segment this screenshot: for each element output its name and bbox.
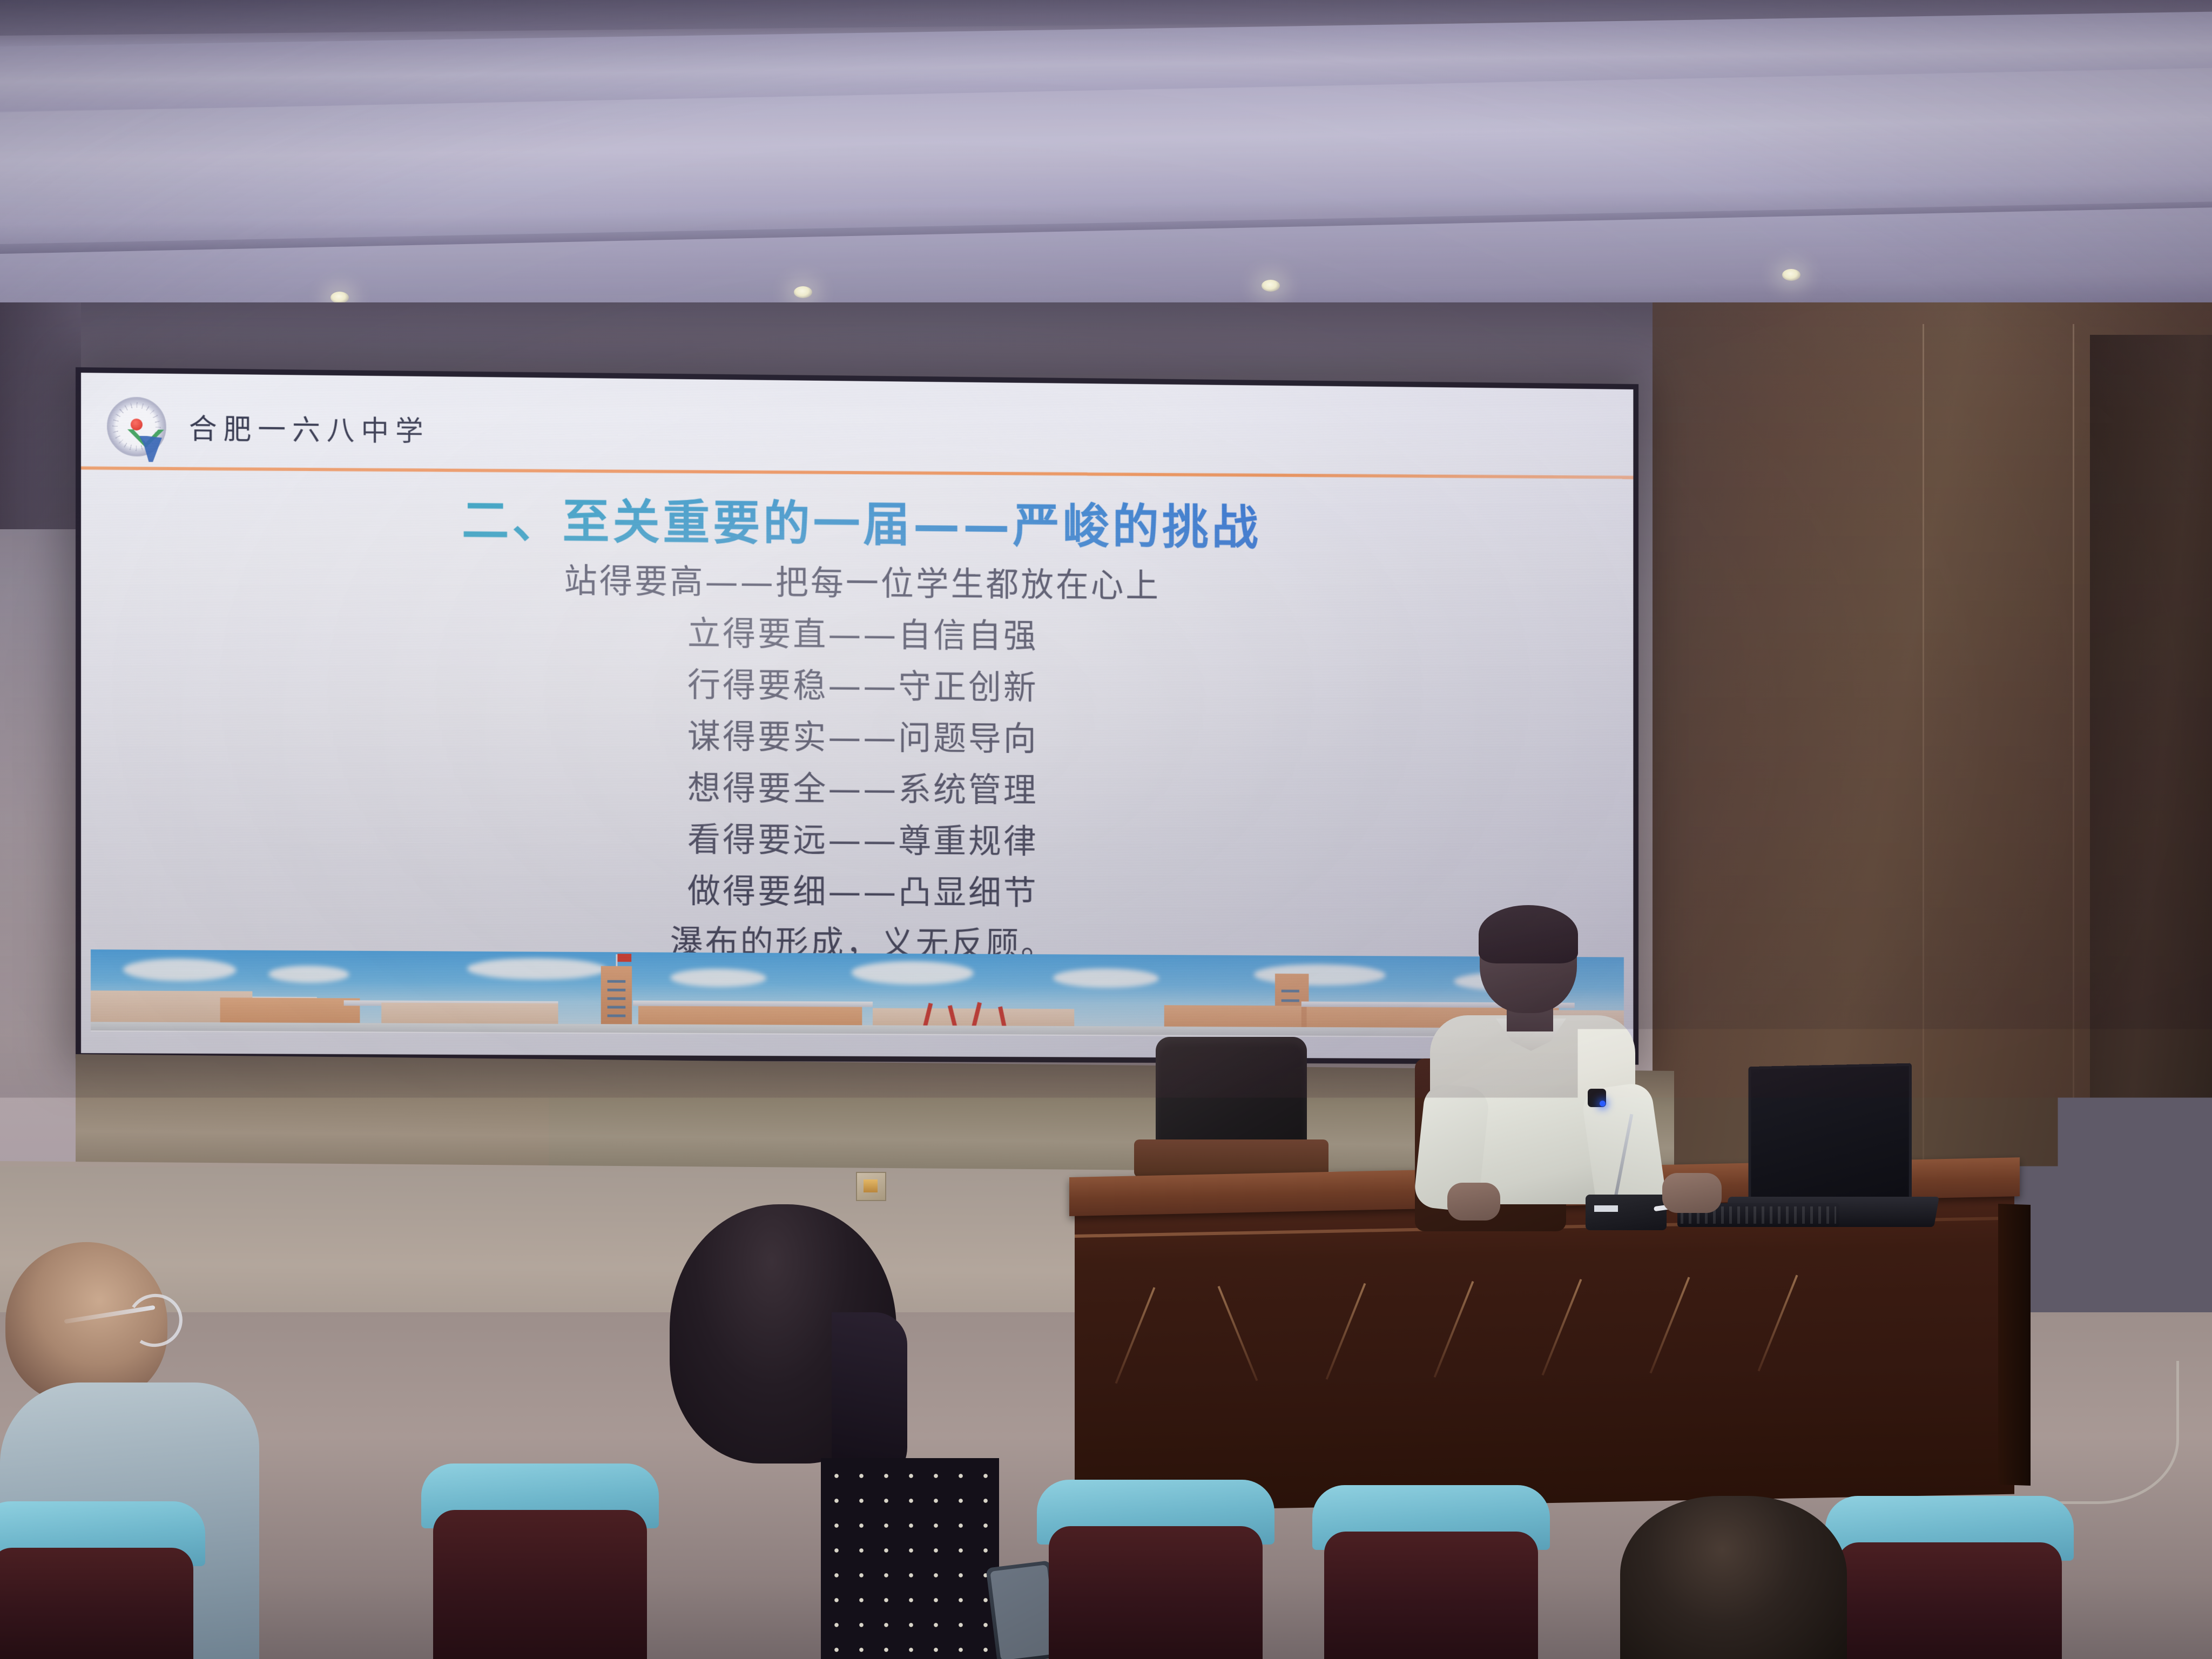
desk-chevron-detail — [1434, 1281, 1474, 1378]
laptop-screen[interactable] — [1749, 1063, 1912, 1209]
seat-back — [0, 1548, 193, 1659]
presenter-desk-front — [1075, 1192, 2014, 1512]
microphone-base[interactable] — [1586, 1195, 1667, 1230]
presenter-right-hand — [1662, 1173, 1722, 1213]
school-emblem-icon — [107, 397, 166, 457]
left-wall-return — [0, 302, 81, 529]
emblem-inner — [118, 408, 156, 446]
ceiling-light-icon — [331, 292, 349, 304]
school-name: 合肥一六八中学 — [189, 406, 430, 449]
slide-line: 想得要全——系统管理 — [81, 758, 1633, 820]
slide-body: 站得要高——把每一位学生都放在心上 立得要直——自信自强 行得要稳——守正创新 … — [81, 551, 1633, 973]
auditorium-seat[interactable] — [1037, 1480, 1274, 1659]
audience-polka-dot-top — [821, 1458, 999, 1659]
projection-screen: 合肥一六八中学 二、至关重要的一届——严峻的挑战 站得要高——把每一位学生都放在… — [76, 367, 1638, 1065]
audience-head-front-right — [1620, 1496, 1847, 1659]
wall-outlet-icon — [856, 1172, 886, 1201]
slide-title: 二、至关重要的一届——严峻的挑战 — [81, 478, 1633, 561]
ceiling-light-icon — [794, 286, 812, 298]
presenter-clip-microphone-icon — [1588, 1089, 1606, 1107]
desk-chevron-detail — [1218, 1286, 1258, 1381]
header-rule — [81, 467, 1633, 479]
desk-chevron-detail — [1326, 1283, 1366, 1380]
presenter-left-hand — [1447, 1183, 1500, 1220]
seat-back — [1049, 1526, 1263, 1659]
auditorium-seat[interactable] — [421, 1464, 659, 1659]
slide-line: 看得要远——尊重规律 — [81, 810, 1633, 871]
auditorium-seat[interactable] — [1312, 1485, 1550, 1659]
ceiling-light-icon — [1262, 280, 1280, 292]
auditorium-seat[interactable] — [1825, 1496, 2074, 1659]
far-right-wall — [2090, 335, 2212, 1442]
desk-chevron-detail — [1650, 1277, 1690, 1373]
campus-panorama-image — [91, 949, 1624, 1037]
emblem-sun-icon — [131, 419, 143, 430]
wall-panel-seam — [2073, 324, 2074, 1426]
cable — [1998, 1361, 2179, 1504]
desk-chevron-detail — [1115, 1287, 1156, 1384]
slide-canvas: 合肥一六八中学 二、至关重要的一届——严峻的挑战 站得要高——把每一位学生都放在… — [81, 373, 1633, 1060]
auditorium-seat[interactable] — [0, 1501, 205, 1659]
slide-line: 做得要细——凸显细节 — [81, 862, 1633, 922]
ceiling-light-icon — [1782, 269, 1800, 281]
desk-chevron-detail — [1758, 1275, 1798, 1372]
screenshot-root: 合肥一六八中学 二、至关重要的一届——严峻的挑战 站得要高——把每一位学生都放在… — [0, 0, 2212, 1659]
presenter-hair — [1479, 905, 1578, 963]
slide-header: 合肥一六八中学 — [81, 373, 1633, 481]
seat-back — [433, 1510, 647, 1659]
seat-back — [1837, 1542, 2062, 1659]
stage-chair-armrest — [1134, 1139, 1328, 1177]
seat-back — [1324, 1532, 1538, 1659]
desk-chevron-detail — [1542, 1279, 1582, 1375]
